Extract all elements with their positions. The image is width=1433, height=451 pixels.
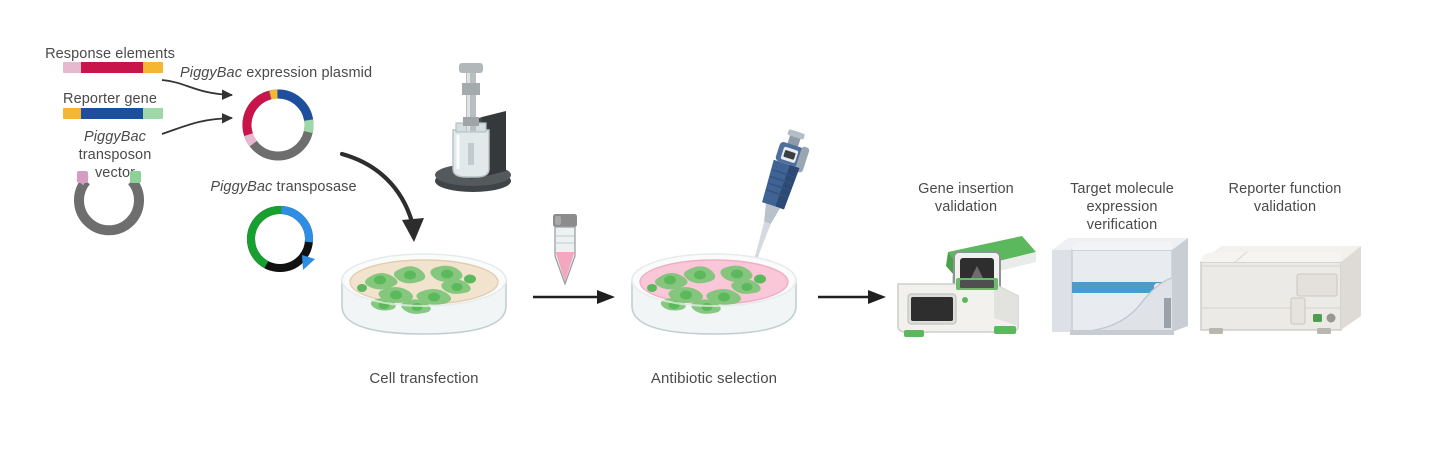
transposon-vector-plasmid bbox=[63, 165, 155, 243]
transposase-plasmid bbox=[240, 198, 324, 280]
arrow-selection-to-validation bbox=[818, 288, 890, 306]
validation-label-gene-insertion-line1: Gene insertion bbox=[918, 181, 1014, 197]
validation-label-target-molecule-line2: expression bbox=[1086, 199, 1157, 215]
transposon-backbone-arc bbox=[79, 181, 139, 230]
cytometer-right-panel bbox=[1172, 238, 1188, 332]
step-label-antibiotic-selection: Antibiotic selection bbox=[624, 370, 804, 389]
platereader-power-led bbox=[1313, 314, 1322, 322]
expression-plasmid-label: PiggyBac expression plasmid bbox=[180, 64, 370, 82]
expression-plasmid-label-rest: expression plasmid bbox=[242, 65, 372, 81]
bar-segment-right-flank bbox=[143, 62, 163, 73]
dish-cell-transfection bbox=[338, 250, 510, 348]
microcentrifuge-tube bbox=[547, 212, 583, 292]
instrument-flow-cytometer bbox=[1046, 228, 1194, 340]
cytometer-top-edge bbox=[1072, 242, 1172, 250]
cytometer-left-column bbox=[1052, 250, 1072, 332]
validation-label-reporter-function: Reporter function validation bbox=[1200, 180, 1370, 216]
platereader-shoulder bbox=[1201, 252, 1341, 262]
legend-bar-reporter-gene bbox=[63, 108, 163, 119]
arrow-transfection-to-selection bbox=[533, 288, 619, 306]
thermocycler-status-led bbox=[962, 297, 968, 303]
bar-segment-response-element-core bbox=[81, 62, 143, 73]
homogenizer-collar-lower bbox=[463, 117, 479, 126]
legend-label-response-elements: Response elements bbox=[0, 45, 220, 63]
validation-label-gene-insertion-line2: validation bbox=[935, 199, 997, 215]
arrow2-head bbox=[868, 290, 886, 304]
tube-cap-shine bbox=[555, 216, 561, 225]
validation-label-gene-insertion: Gene insertion validation bbox=[890, 180, 1042, 216]
bar-segment-reporter-orf bbox=[81, 108, 143, 119]
thermocycler-touchscreen bbox=[911, 297, 953, 321]
arrow-legend-to-plasmid-top bbox=[162, 80, 232, 95]
cytometer-vent-slot bbox=[1164, 298, 1171, 328]
transposon-right-itr-block bbox=[130, 171, 141, 183]
cytometer-base bbox=[1070, 330, 1174, 335]
legend-label-transposon-vector-line2: transposon bbox=[79, 147, 152, 163]
transposase-arrowhead bbox=[302, 255, 315, 270]
instrument-plate-reader bbox=[1195, 232, 1367, 342]
homogenizer-pestle bbox=[468, 143, 474, 165]
transposon-left-itr-block bbox=[77, 171, 88, 183]
platereader-drawer-slot bbox=[1291, 298, 1305, 324]
thermocycler-sample-wells bbox=[960, 280, 994, 288]
arrow-legend-to-plasmid-bottom bbox=[162, 118, 232, 134]
bar-segment-left-flank bbox=[63, 62, 81, 73]
homogenizer-collar-upper bbox=[462, 83, 480, 95]
expression-plasmid-label-italic: PiggyBac bbox=[180, 65, 242, 81]
tissue-homogenizer bbox=[420, 55, 530, 195]
legend-label-transposon-vector-line1: PiggyBac bbox=[84, 129, 146, 145]
arrow-plasmids-to-dish-shaft bbox=[342, 154, 412, 222]
legend-bar-response-elements bbox=[63, 62, 163, 73]
validation-label-reporter-function-line1: Reporter function bbox=[1229, 181, 1342, 197]
step-label-cell-transfection: Cell transfection bbox=[334, 370, 514, 389]
instrument-thermocycler bbox=[890, 222, 1040, 340]
homogenizer-knob bbox=[459, 63, 483, 73]
thermocycler-foot-left bbox=[904, 330, 924, 337]
validation-label-reporter-function-line2: validation bbox=[1254, 199, 1316, 215]
dish-antibiotic-selection bbox=[628, 250, 800, 348]
platereader-power-button bbox=[1327, 314, 1336, 323]
thermocycler-foot-right bbox=[994, 326, 1016, 334]
platereader-foot-left bbox=[1209, 328, 1223, 334]
validation-label-target-molecule-line1: Target molecule bbox=[1070, 181, 1174, 197]
platereader-foot-right bbox=[1317, 328, 1331, 334]
workflow-diagram: Response elements Reporter gene PiggyBac… bbox=[0, 0, 1433, 451]
platereader-panel bbox=[1297, 274, 1337, 296]
arrow1-head bbox=[597, 290, 615, 304]
bar-segment-promoter bbox=[63, 108, 81, 119]
expression-plasmid bbox=[236, 84, 320, 166]
validation-label-target-molecule: Target molecule expression verification bbox=[1046, 180, 1198, 234]
expression-plasmid-promoter bbox=[240, 87, 315, 162]
arrow-plasmids-to-dish-head bbox=[402, 218, 424, 242]
transposase-plasmid-label-italic: PiggyBac bbox=[210, 179, 272, 195]
